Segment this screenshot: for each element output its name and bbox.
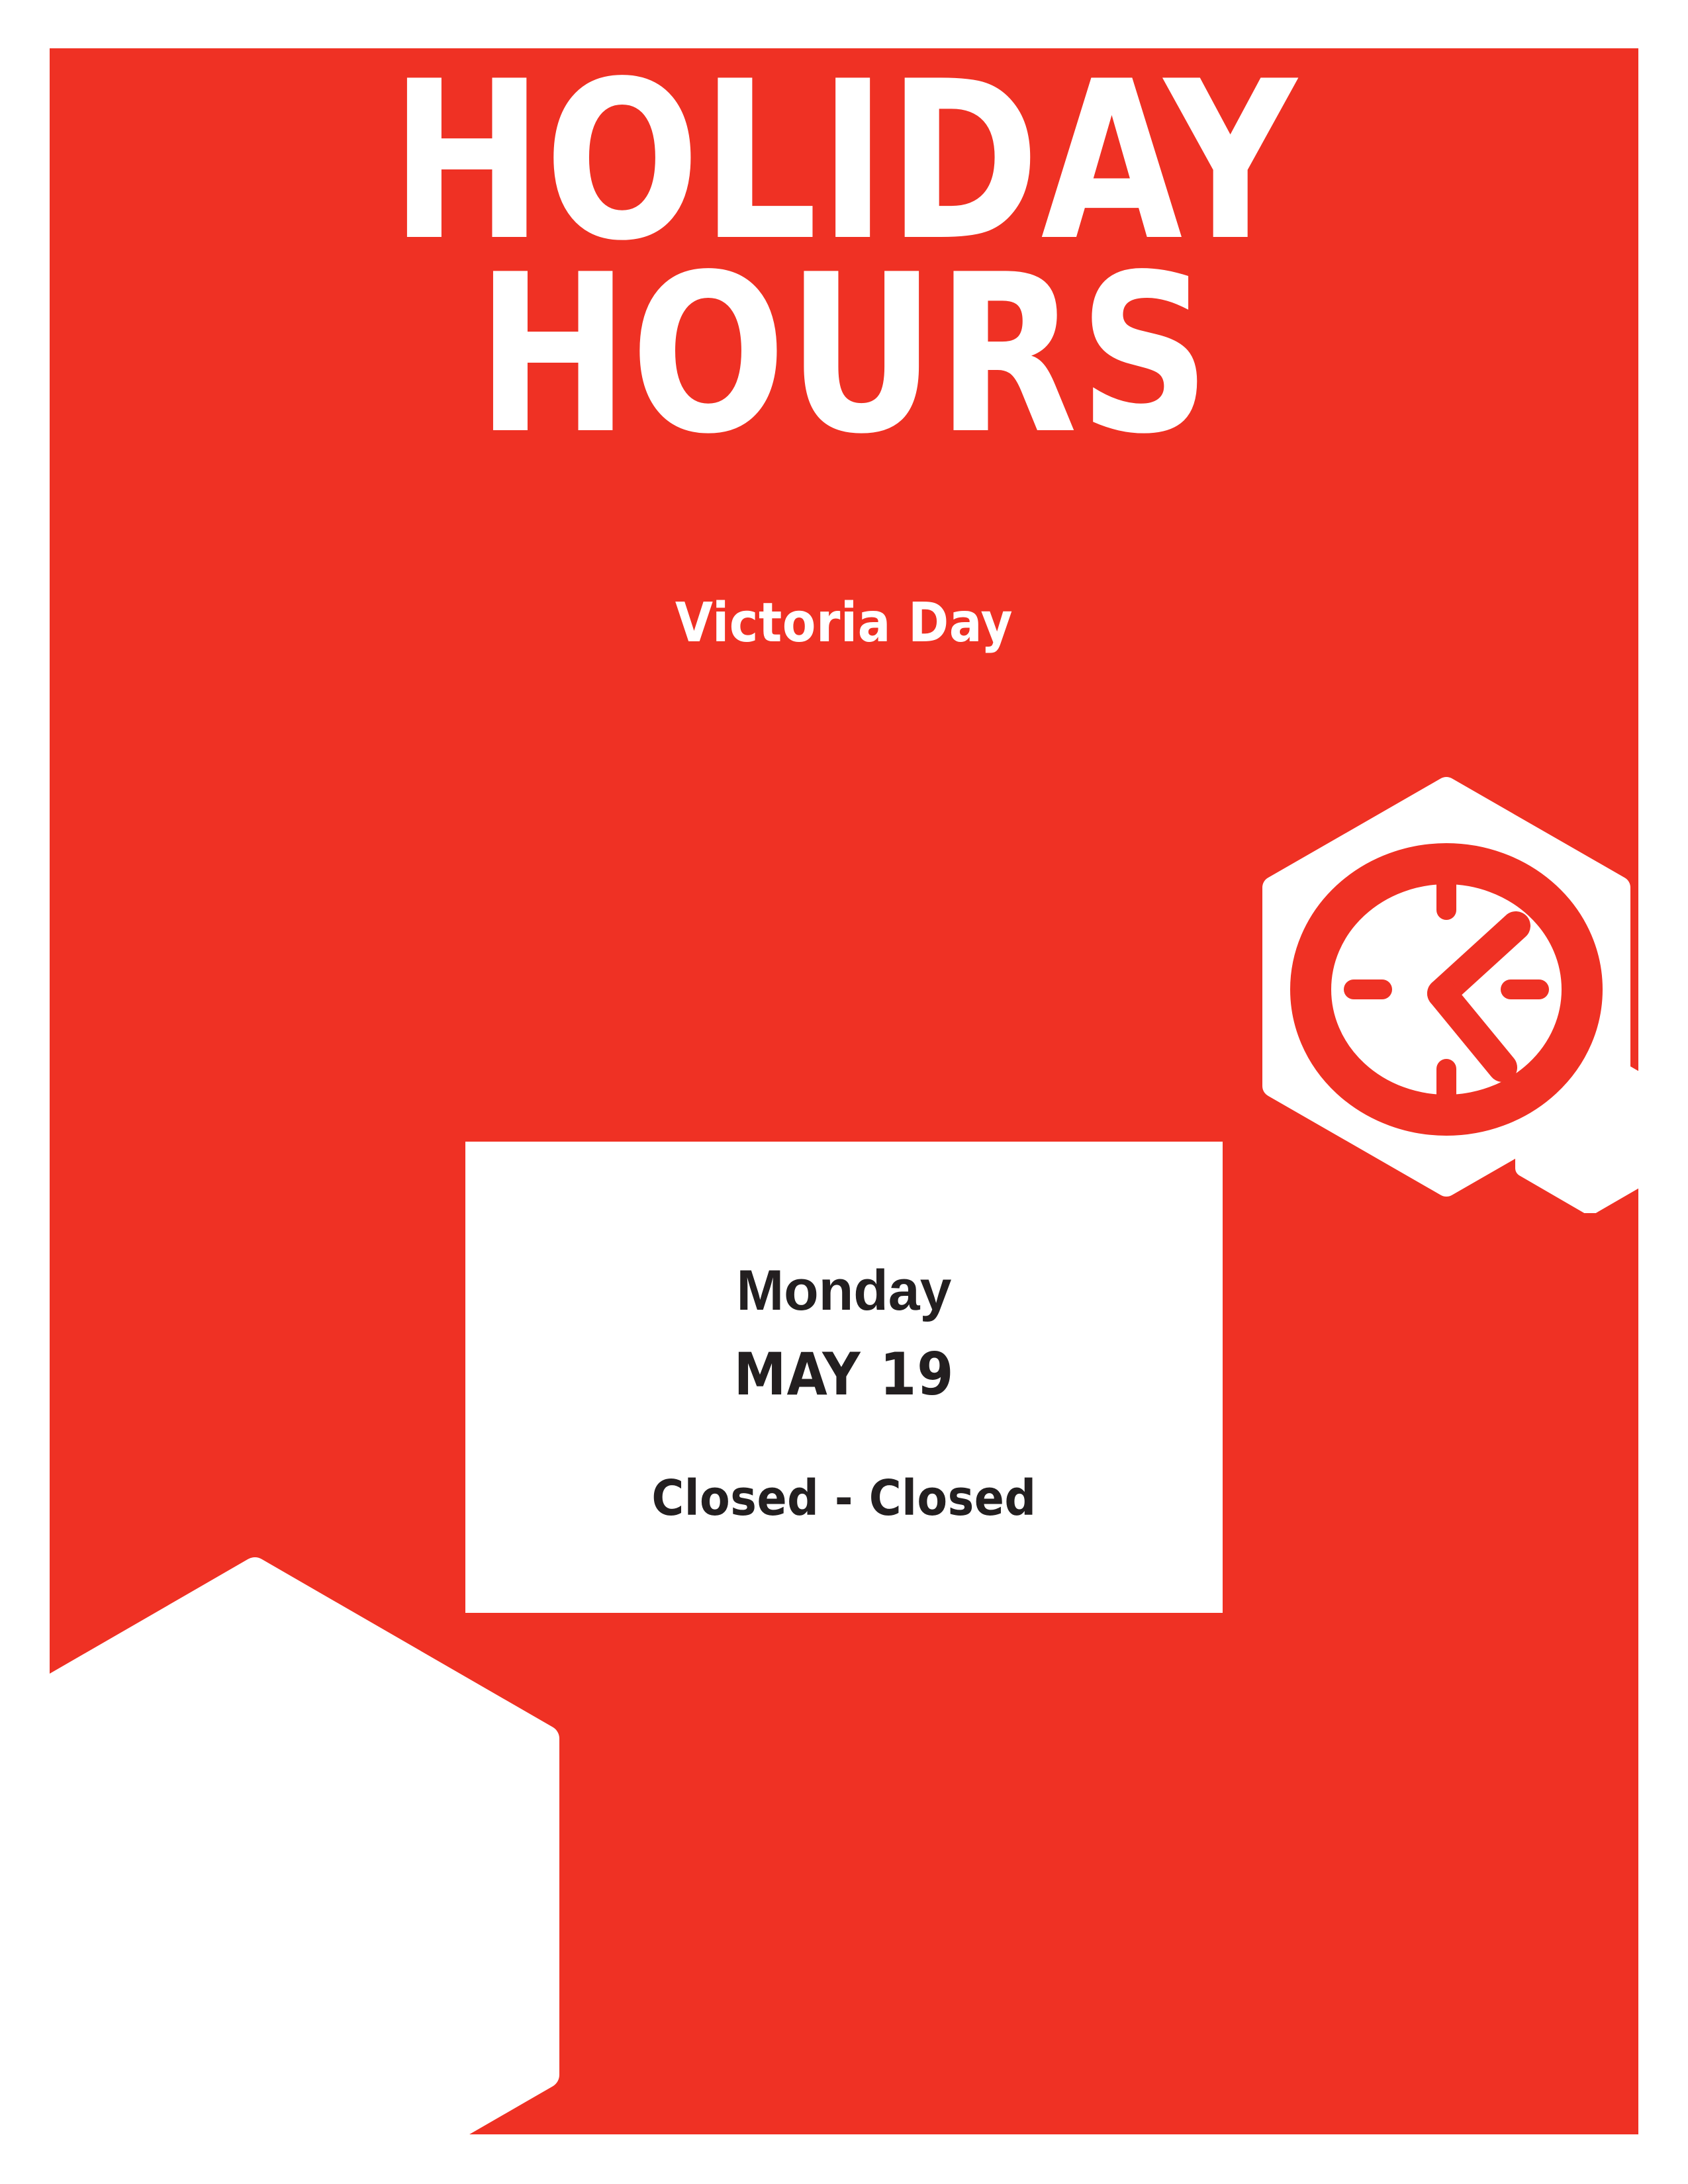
clock-badge — [1251, 737, 1638, 1213]
clock-icon — [1311, 864, 1582, 1115]
page-title-line-2: HOURS — [105, 261, 1583, 449]
hours-card: Monday MAY 19 Closed - Closed — [465, 1142, 1223, 1613]
holiday-hours-poster: HOLIDAY HOURS Victoria Day — [50, 48, 1638, 2134]
card-date: MAY 19 — [465, 1345, 1223, 1404]
card-weekday: Monday — [465, 1262, 1223, 1319]
page-subtitle: Victoria Day — [50, 596, 1638, 651]
card-hours-range: Closed - Closed — [465, 1474, 1223, 1523]
